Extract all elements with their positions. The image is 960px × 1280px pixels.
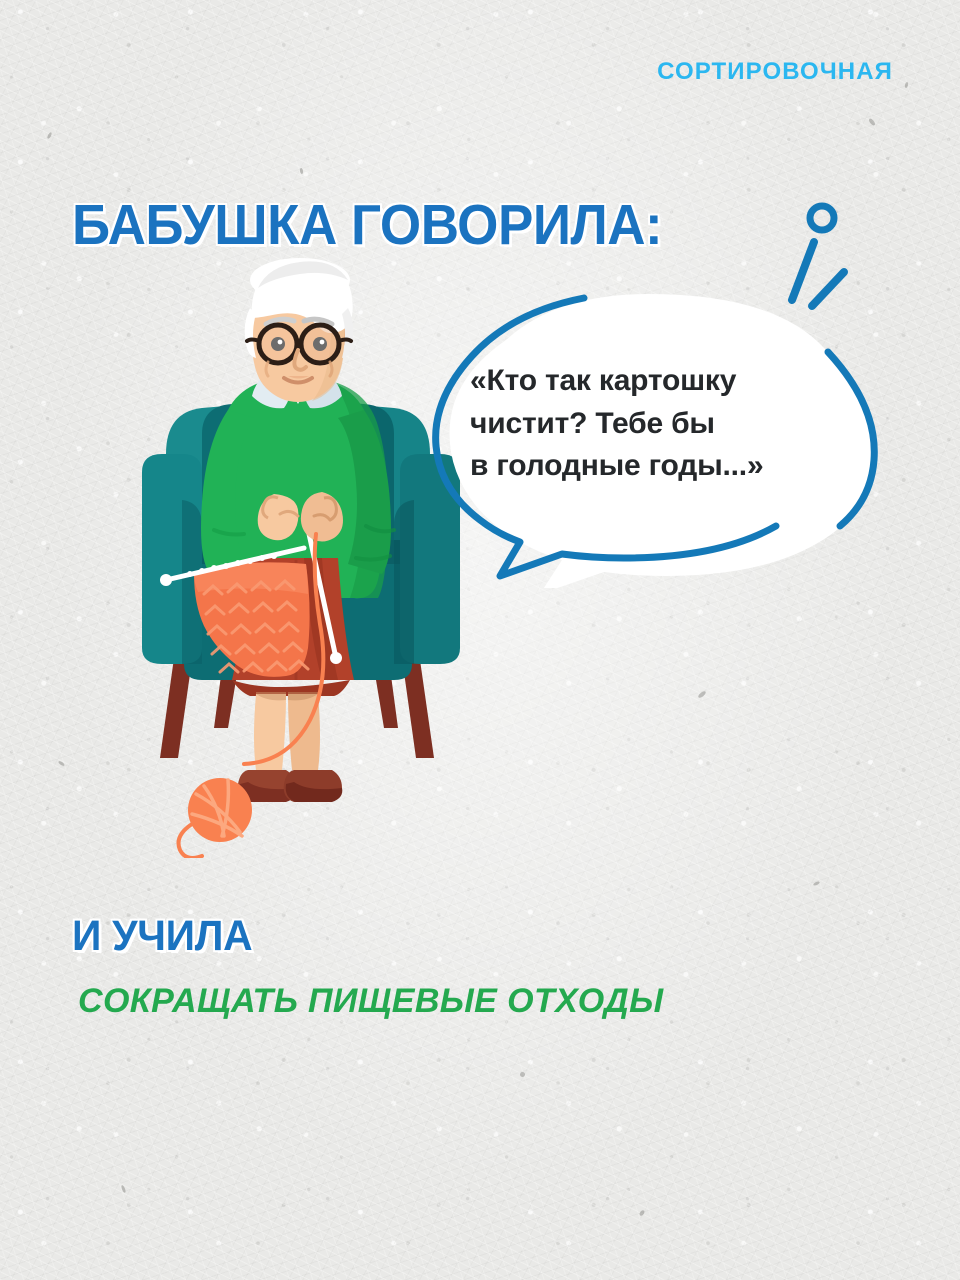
speech-bubble-line: «Кто так картошку (470, 360, 870, 403)
speech-bubble-line: в голодные годы...» (470, 445, 870, 488)
legs (254, 692, 320, 770)
shoes (238, 770, 343, 802)
poster-canvas: СОРТИРОВОЧНАЯ БАБУШКА ГОВОРИЛА: (0, 0, 960, 1280)
speech-bubble: «Кто так картошку чистит? Тебе бы в голо… (398, 288, 898, 588)
brand-eyebrow-label: СОРТИРОВОЧНАЯ (657, 58, 893, 86)
paper-fleck (520, 1072, 525, 1077)
yarn-ball (179, 778, 253, 858)
footer-subline: СОКРАЩАТЬ ПИЩЕВЫЕ ОТХОДЫ (78, 982, 664, 1021)
speech-bubble-line: чистит? Тебе бы (470, 403, 870, 446)
head (245, 258, 354, 402)
speech-bubble-text: «Кто так картошку чистит? Тебе бы в голо… (470, 360, 870, 488)
page-title: БАБУШКА ГОВОРИЛА: (72, 192, 662, 258)
footer-kicker: И УЧИЛА (72, 912, 252, 961)
